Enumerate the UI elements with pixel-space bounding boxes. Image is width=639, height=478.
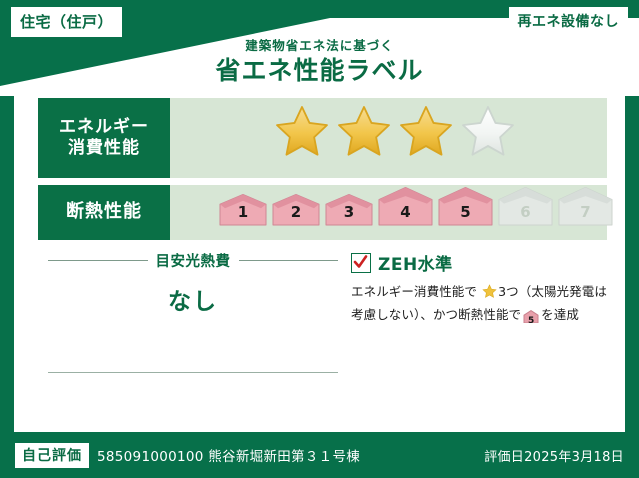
title-subtitle: 建築物省エネ法に基づく [0,38,639,53]
star-filled-icon [398,104,454,160]
insulation-level-number: 5 [437,203,494,221]
insulation-level-number: 3 [324,203,374,221]
renewable-equipment-badge: 再エネ設備なし [509,7,629,36]
utility-cost-bottom-rule [48,372,338,373]
heading-rule-right [239,260,339,261]
inline-house-badge: 5 [523,309,539,329]
footer-bar: 自己評価 585091000100 熊谷新堀新田第３１号棟 評価日2025年3月… [0,432,639,478]
insulation-level-3: 3 [324,193,374,226]
insulation-level-number: 7 [557,203,614,221]
heading-rule-left [48,260,148,261]
insulation-level-5: 5 [437,186,494,226]
utility-cost-value: なし [48,282,338,316]
inline-star-icon [478,287,497,302]
inline-house-number: 5 [523,314,539,329]
evaluation-date: 評価日2025年3月18日 [484,446,624,465]
insulation-level-7: 7 [557,186,614,226]
label-card: エネルギー 消費性能 断熱性能 1234567 目安光熱費 なし [14,88,625,432]
insulation-level-1: 1 [218,193,268,226]
label-card-inner: エネルギー 消費性能 断熱性能 1234567 目安光熱費 なし [24,90,615,426]
zeh-desc-part3: を達成 [541,307,579,322]
energy-category-line2: 消費性能 [59,138,149,159]
energy-category-label: エネルギー 消費性能 [38,98,170,178]
insulation-level-scale: 1234567 [218,186,614,226]
energy-category-line1: エネルギー [59,117,149,138]
label-id-and-address: 585091000100 熊谷新堀新田第３１号棟 [97,445,360,465]
zeh-title: ZEH水準 [378,250,453,275]
insulation-level-number: 1 [218,203,268,221]
insulation-level-number: 6 [497,203,554,221]
star-empty-icon [460,104,516,160]
utility-cost-heading: 目安光熱費 [48,250,338,271]
checkbox-icon [351,253,371,273]
energy-star-rating [274,104,516,160]
insulation-level-4: 4 [377,186,434,226]
insulation-level-number: 4 [377,203,434,221]
zeh-heading: ZEH水準 [351,250,619,275]
zeh-desc-part1: エネルギー消費性能で [351,284,477,299]
page-title: 建築物省エネ法に基づく 省エネ性能ラベル [0,38,639,86]
zeh-description: エネルギー消費性能で 3つ（太陽光発電は考慮しない）、かつ断熱性能で 5 を達成 [351,282,619,330]
self-evaluation-badge: 自己評価 [15,443,89,468]
energy-performance-label: 住宅（住戸） 再エネ設備なし 建築物省エネ法に基づく 省エネ性能ラベル エネルギ… [0,0,639,478]
title-main: 省エネ性能ラベル [0,55,639,86]
insulation-level-number: 2 [271,203,321,221]
utility-cost-heading-text: 目安光熱費 [156,250,231,271]
insulation-level-2: 2 [271,193,321,226]
star-filled-icon [274,104,330,160]
building-type-badge: 住宅（住戸） [11,7,122,37]
insulation-category-label: 断熱性能 [38,185,170,240]
zeh-section: ZEH水準 エネルギー消費性能で 3つ（太陽光発電は考慮しない）、かつ断熱性能で… [351,250,619,330]
star-filled-icon [336,104,392,160]
insulation-level-6: 6 [497,186,554,226]
